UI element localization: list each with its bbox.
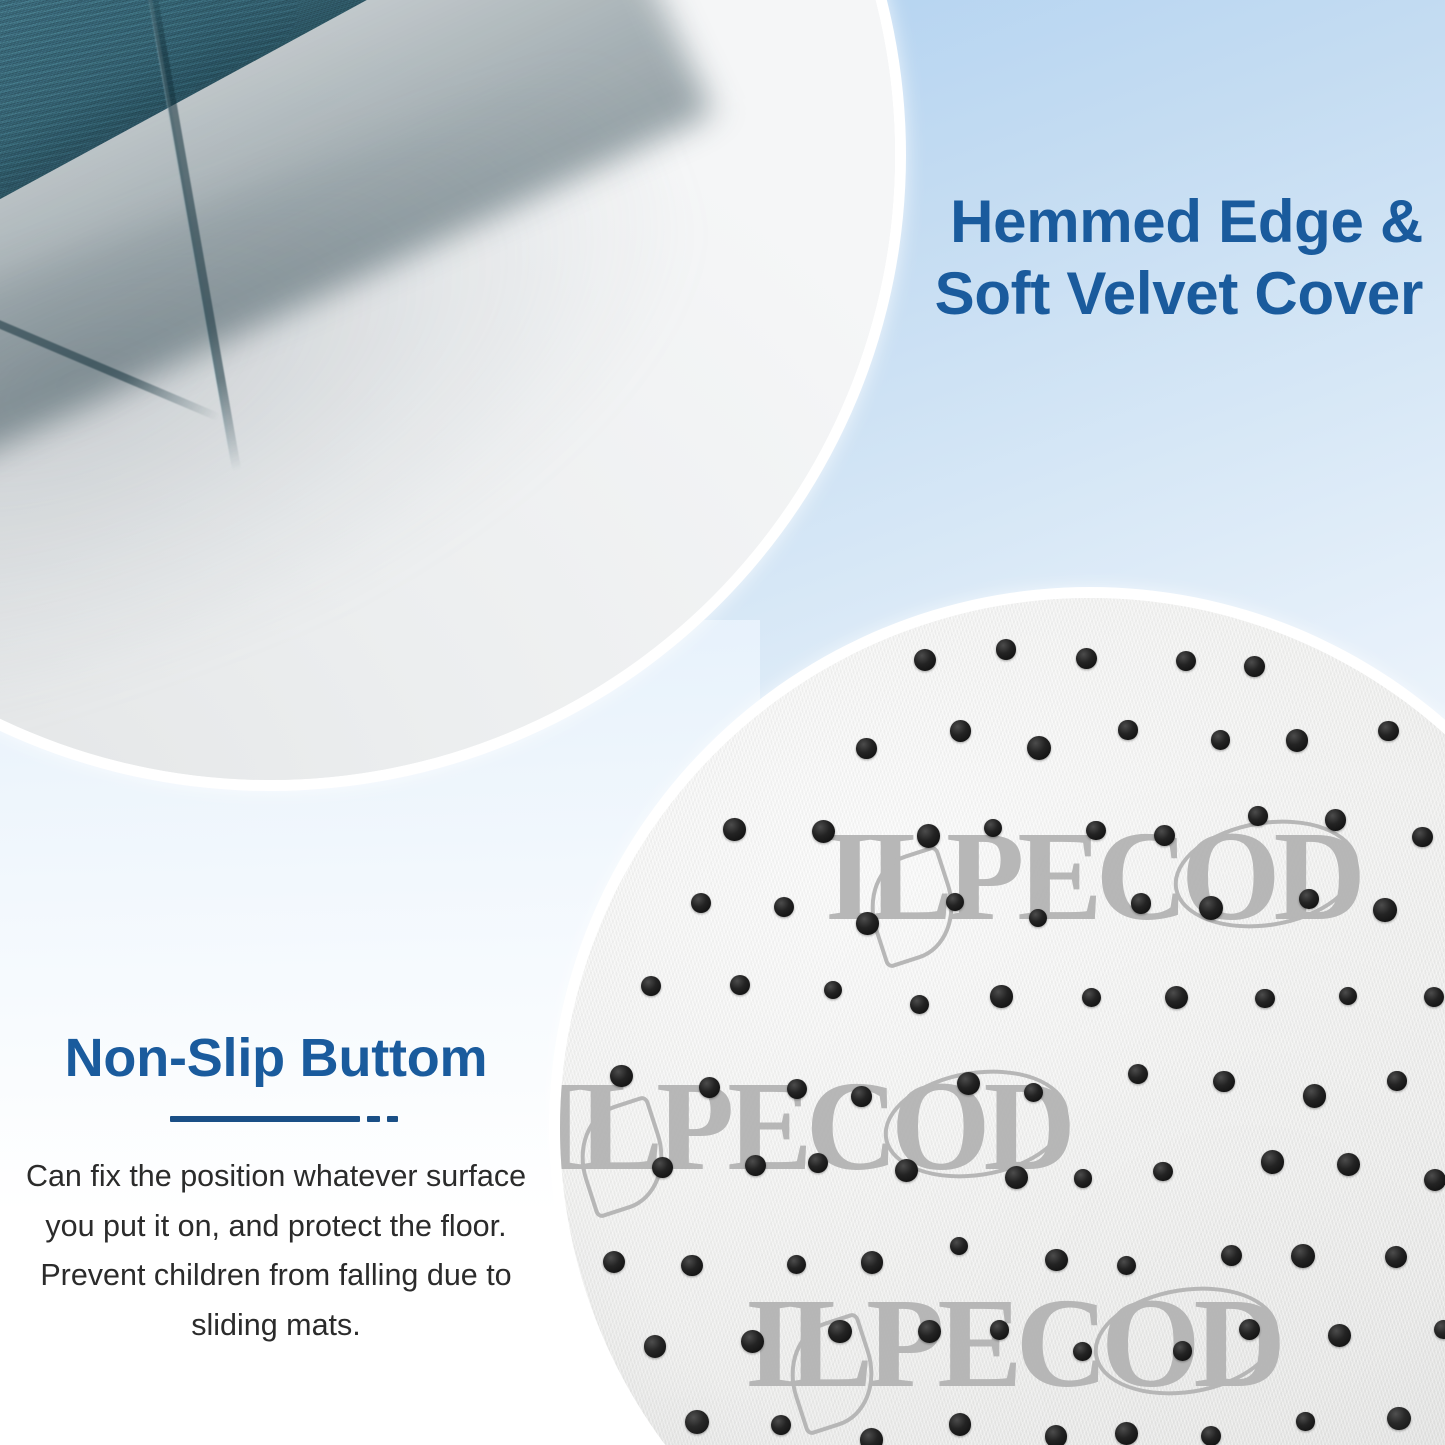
anti-slip-dot (1387, 1071, 1406, 1090)
anti-slip-dot (1325, 809, 1346, 830)
anti-slip-dot (1118, 720, 1137, 739)
anti-slip-dot (644, 1335, 666, 1357)
anti-slip-dot (1412, 827, 1433, 848)
anti-slip-dot (1045, 1425, 1068, 1445)
headline-line-2: Soft Velvet Cover (663, 258, 1423, 330)
anti-slip-dot (1337, 1153, 1360, 1176)
anti-slip-dot (918, 1320, 941, 1343)
anti-slip-dot (610, 1065, 633, 1088)
anti-slip-dot (1029, 909, 1047, 927)
anti-slip-dot (641, 976, 661, 996)
divider (6, 1116, 546, 1122)
anti-slip-dot (949, 1413, 972, 1436)
anti-slip-dot (957, 1072, 980, 1095)
anti-slip-dot (1201, 1426, 1222, 1445)
anti-slip-dot (741, 1330, 764, 1353)
anti-slip-dot (1424, 1169, 1445, 1191)
anti-slip-dot (787, 1255, 806, 1274)
anti-slip-dot (1244, 656, 1265, 677)
headline-line-1: Hemmed Edge & (663, 186, 1423, 258)
anti-slip-dot (1378, 721, 1398, 741)
anti-slip-dot (950, 720, 971, 741)
anti-slip-dot (1131, 893, 1152, 914)
anti-slip-dot (1286, 729, 1308, 751)
anti-slip-dot (1154, 825, 1175, 846)
anti-slip-dot (1255, 989, 1274, 1008)
anti-slip-dot (1387, 1407, 1411, 1431)
anti-slip-dot (856, 912, 878, 934)
anti-slip-dot (1086, 821, 1106, 841)
anti-slip-dot (1385, 1246, 1407, 1268)
anti-slip-dot (1296, 1412, 1314, 1430)
anti-slip-dot (1303, 1084, 1327, 1108)
anti-slip-dot (1115, 1422, 1138, 1445)
anti-slip-dot (910, 995, 929, 1014)
anti-slip-dot (699, 1077, 720, 1098)
divider-dash-1 (367, 1116, 380, 1122)
anti-slip-dot (851, 1086, 872, 1107)
anti-slip-dot (1339, 987, 1357, 1005)
anti-slip-dot (1299, 889, 1318, 908)
product-feature-image: ILPECOD ILPECOD ILPECOD Hemmed Edge & So… (0, 0, 1445, 1445)
anti-slip-dot (1261, 1150, 1284, 1173)
feature-body: Can fix the position whatever surface yo… (6, 1152, 546, 1350)
anti-slip-dot (723, 818, 745, 840)
anti-slip-dot (1074, 1169, 1093, 1188)
anti-slip-dot (996, 639, 1017, 660)
divider-dash-2 (387, 1116, 398, 1122)
anti-slip-dot (685, 1410, 709, 1434)
non-slip-mat-photo-circle: ILPECOD ILPECOD ILPECOD (560, 598, 1445, 1445)
anti-slip-dot (856, 738, 876, 758)
feature-title: Non-Slip Buttom (6, 1028, 546, 1088)
brand-watermark-2: ILPECOD (560, 1053, 1069, 1200)
anti-slip-dot (652, 1157, 673, 1178)
anti-slip-dot (1248, 806, 1268, 826)
brand-watermark-3: ILPECOD (745, 1270, 1279, 1417)
anti-slip-dot (1045, 1249, 1068, 1272)
anti-slip-dot (1221, 1245, 1242, 1266)
feature-block: Non-Slip Buttom Can fix the position wha… (6, 1028, 546, 1350)
anti-slip-dot (1211, 730, 1231, 750)
anti-slip-dot (1291, 1244, 1315, 1268)
anti-slip-dot (1005, 1166, 1028, 1189)
anti-slip-dot (1199, 896, 1223, 920)
anti-slip-dot (917, 824, 940, 847)
anti-slip-dot (1076, 648, 1097, 669)
anti-slip-dot (824, 981, 842, 999)
anti-slip-dot (1328, 1324, 1351, 1347)
anti-slip-dot (1153, 1162, 1172, 1181)
anti-slip-dot (1024, 1083, 1043, 1102)
velvet-cushion (0, 0, 735, 420)
anti-slip-dot (861, 1251, 884, 1274)
divider-line (170, 1116, 360, 1122)
anti-slip-dot (950, 1237, 969, 1256)
anti-slip-dot (745, 1155, 766, 1176)
anti-slip-dot (812, 820, 835, 843)
anti-slip-dot (1128, 1064, 1148, 1084)
anti-slip-dot (990, 985, 1012, 1007)
headline: Hemmed Edge & Soft Velvet Cover (663, 186, 1423, 330)
anti-slip-dot (1373, 898, 1396, 921)
anti-slip-dot (990, 1320, 1009, 1339)
anti-slip-dot (895, 1159, 918, 1182)
anti-slip-dot (1213, 1071, 1234, 1092)
